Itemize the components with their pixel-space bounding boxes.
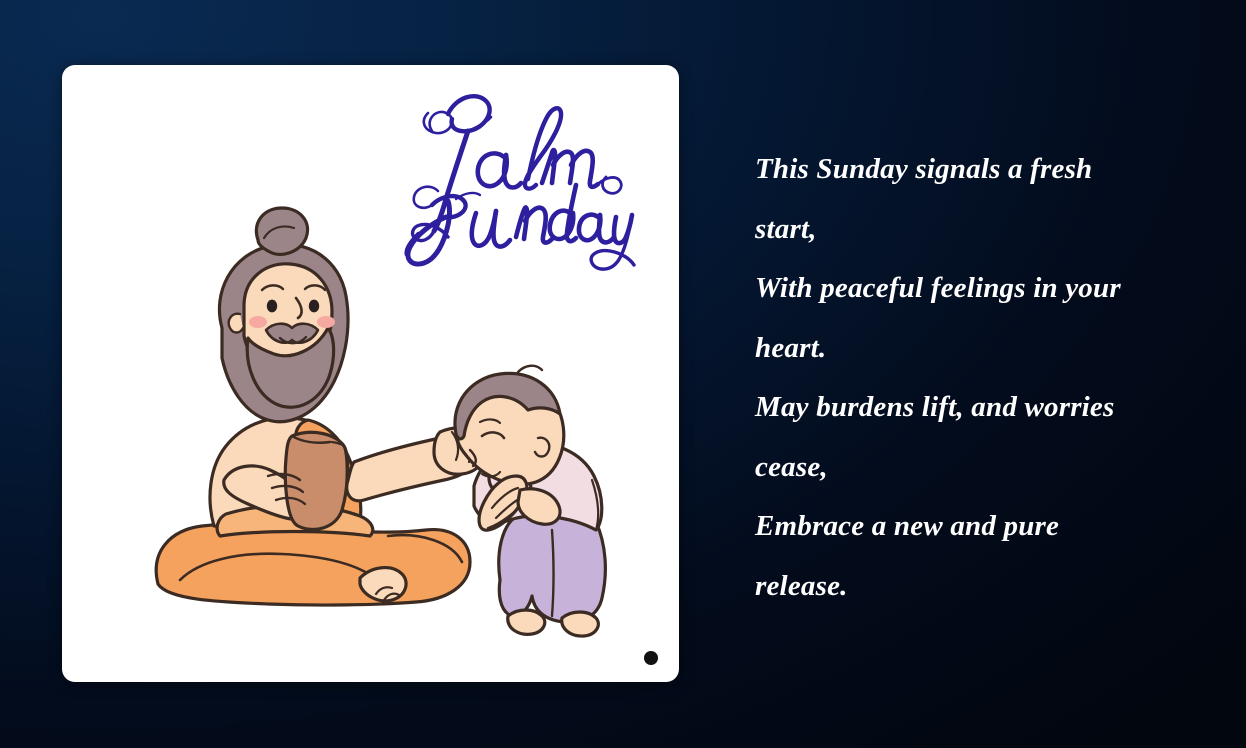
greeting-card: Palm Sunday bbox=[62, 65, 679, 682]
poem-line: start, bbox=[755, 200, 1195, 260]
guru-blessing-child-illustration bbox=[140, 180, 660, 680]
poem-line: This Sunday signals a fresh bbox=[755, 140, 1195, 200]
greeting-page: Palm Sunday bbox=[0, 0, 1246, 748]
poem-line: With peaceful feelings in your bbox=[755, 259, 1195, 319]
corner-dot bbox=[644, 651, 658, 665]
poem-block: This Sunday signals a fresh start, With … bbox=[755, 140, 1195, 616]
poem-line: heart. bbox=[755, 319, 1195, 379]
poem-line: Embrace a new and pure bbox=[755, 497, 1195, 557]
poem-line: May burdens lift, and worries bbox=[755, 378, 1195, 438]
poem-line: release. bbox=[755, 557, 1195, 617]
poem-line: cease, bbox=[755, 438, 1195, 498]
